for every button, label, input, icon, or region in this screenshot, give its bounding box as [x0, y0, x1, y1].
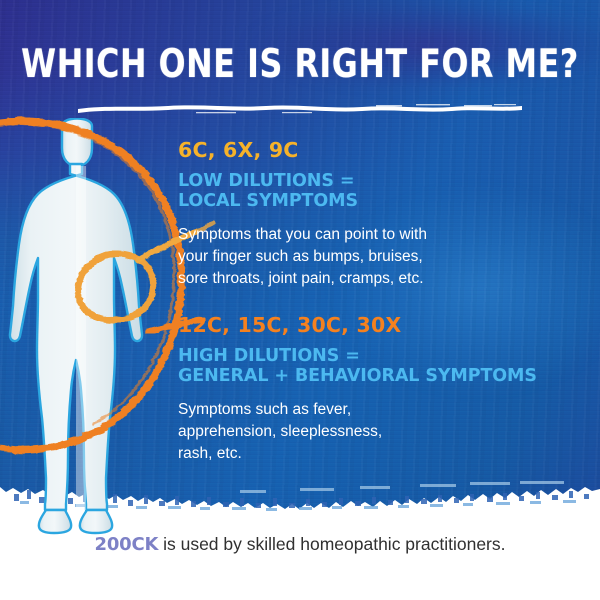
- section-subheading-line-2: LOCAL SYMPTOMS: [178, 191, 427, 211]
- section-body-line-1: Symptoms that you can point to with: [178, 224, 427, 246]
- footer-code-label: 200CK: [95, 534, 159, 555]
- section-body-text: Symptoms such as fever, apprehension, sl…: [178, 399, 537, 465]
- section-body-line-3: sore throats, joint pain, cramps, etc.: [178, 268, 427, 290]
- infographic-poster: WHICH ONE IS RIGHT FOR ME? 6C, 6X, 9C LO…: [0, 0, 600, 600]
- title-brush-underline: [76, 101, 524, 115]
- human-body-silhouette: [0, 118, 192, 536]
- section-body-line-2: your finger such as bumps, bruises,: [178, 246, 427, 268]
- section-subheading-line-2: GENERAL + BEHAVIORAL SYMPTOMS: [178, 366, 537, 386]
- section-body-line-1: Symptoms such as fever,: [178, 399, 537, 421]
- section-body-line-3: rash, etc.: [178, 443, 537, 465]
- footer-note-text: is used by skilled homeopathic practitio…: [158, 534, 505, 554]
- section-subheading: LOW DILUTIONS = LOCAL SYMPTOMS: [178, 171, 427, 212]
- section-code-label: 12C, 15C, 30C, 30X: [178, 315, 537, 337]
- dilution-section-low: 6C, 6X, 9C LOW DILUTIONS = LOCAL SYMPTOM…: [178, 140, 427, 290]
- section-subheading: HIGH DILUTIONS = GENERAL + BEHAVIORAL SY…: [178, 346, 537, 387]
- dilution-section-high: 12C, 15C, 30C, 30X HIGH DILUTIONS = GENE…: [178, 315, 537, 465]
- section-subheading-line-1: HIGH DILUTIONS =: [178, 346, 537, 366]
- footer-note: 200CK is used by skilled homeopathic pra…: [0, 534, 600, 555]
- section-body-text: Symptoms that you can point to with your…: [178, 224, 427, 290]
- section-subheading-line-1: LOW DILUTIONS =: [178, 171, 427, 191]
- section-body-line-2: apprehension, sleeplessness,: [178, 421, 537, 443]
- section-code-label: 6C, 6X, 9C: [178, 140, 427, 162]
- page-title: WHICH ONE IS RIGHT FOR ME?: [12, 44, 588, 83]
